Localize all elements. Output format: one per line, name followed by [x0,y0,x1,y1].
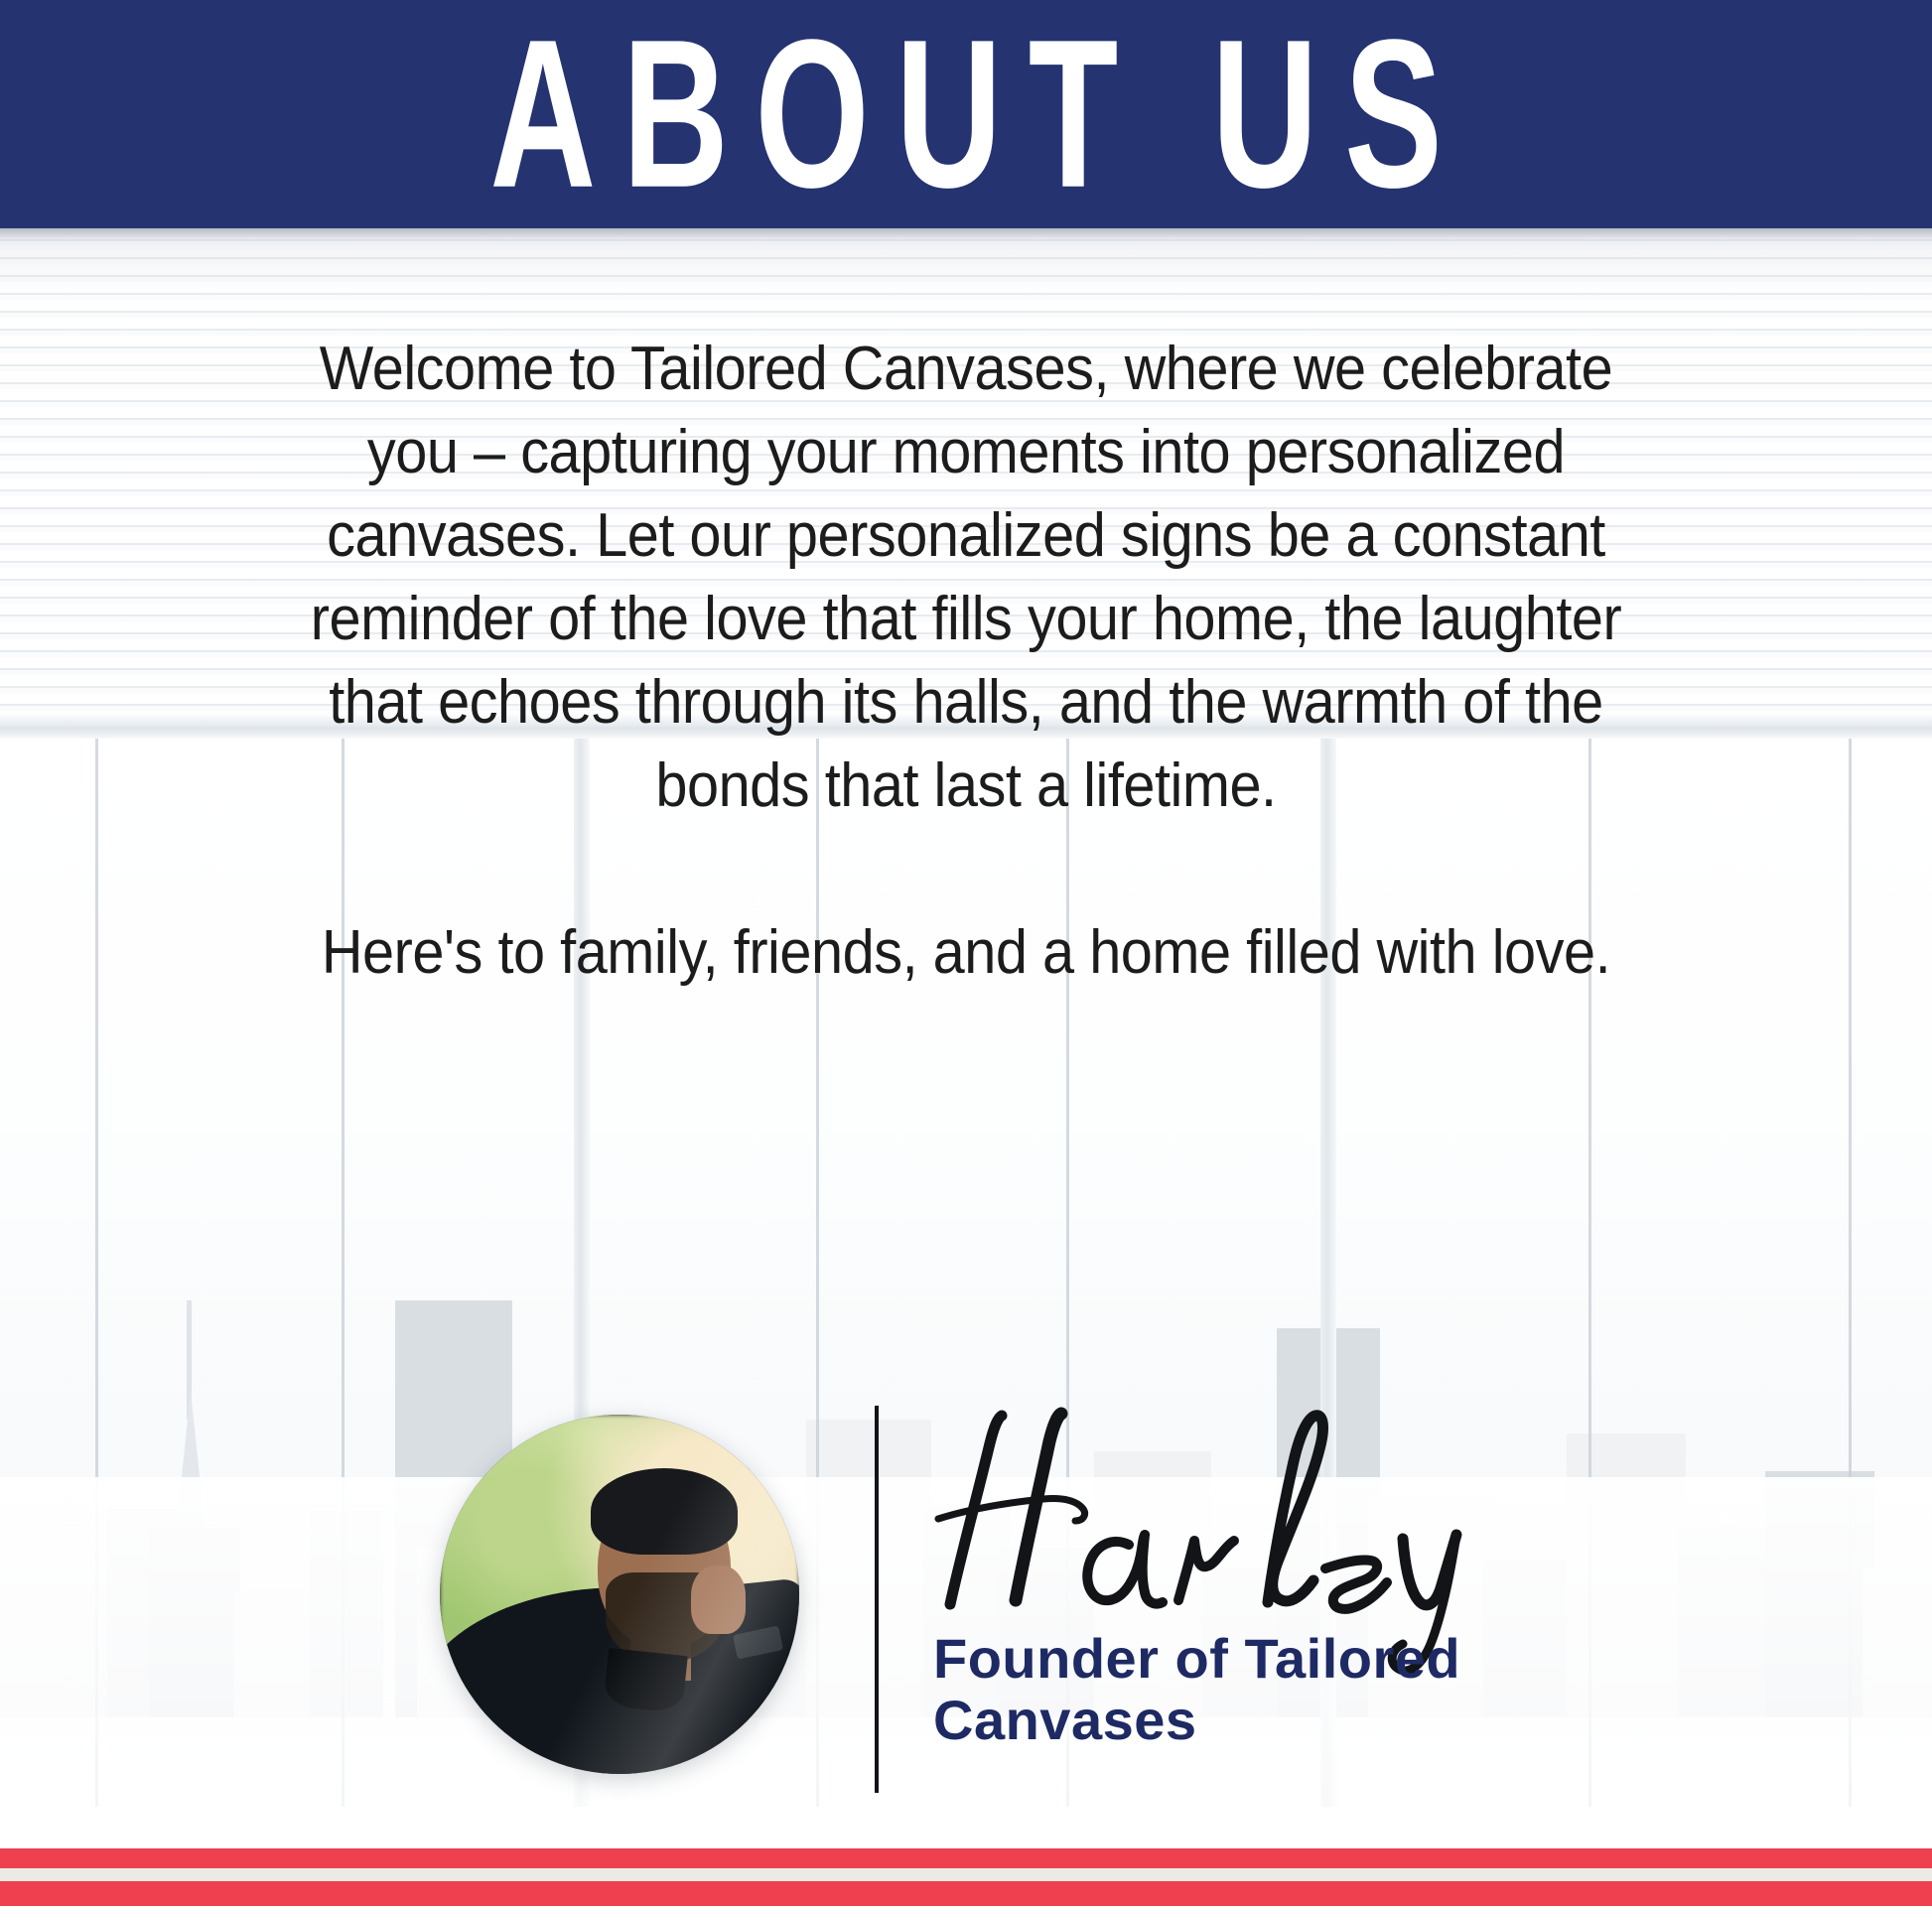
handwritten-signature: Harley [898,1370,1534,1668]
vertical-divider [875,1406,879,1793]
footer-bar-top [0,1848,1932,1868]
paragraph-2: Here's to family, friends, and a home fi… [261,911,1671,995]
footer-bar-bottom [0,1881,1932,1906]
avatar [440,1415,799,1774]
founder-role-line-2: Canvases [933,1690,1628,1751]
page-title: ABOUT US [464,9,1469,220]
footer-bar-gap [0,1868,1932,1881]
founder-signature-block: Harley Founder of Tailored Canvases [0,1390,1932,1807]
about-us-header-banner: ABOUT US [0,0,1932,228]
founder-role: Founder of Tailored Canvases [933,1628,1628,1751]
about-us-body-copy: Welcome to Tailored Canvases, where we c… [261,328,1671,995]
paragraph-2-text: Here's to family, friends, and a home fi… [322,911,1610,995]
paragraph-1-text: Welcome to Tailored Canvases, where we c… [311,328,1622,828]
paragraph-1: Welcome to Tailored Canvases, where we c… [261,328,1671,828]
avatar-glare [440,1415,799,1774]
founder-role-line-1: Founder of Tailored [933,1628,1628,1690]
footer-accent-bars [0,1848,1932,1906]
